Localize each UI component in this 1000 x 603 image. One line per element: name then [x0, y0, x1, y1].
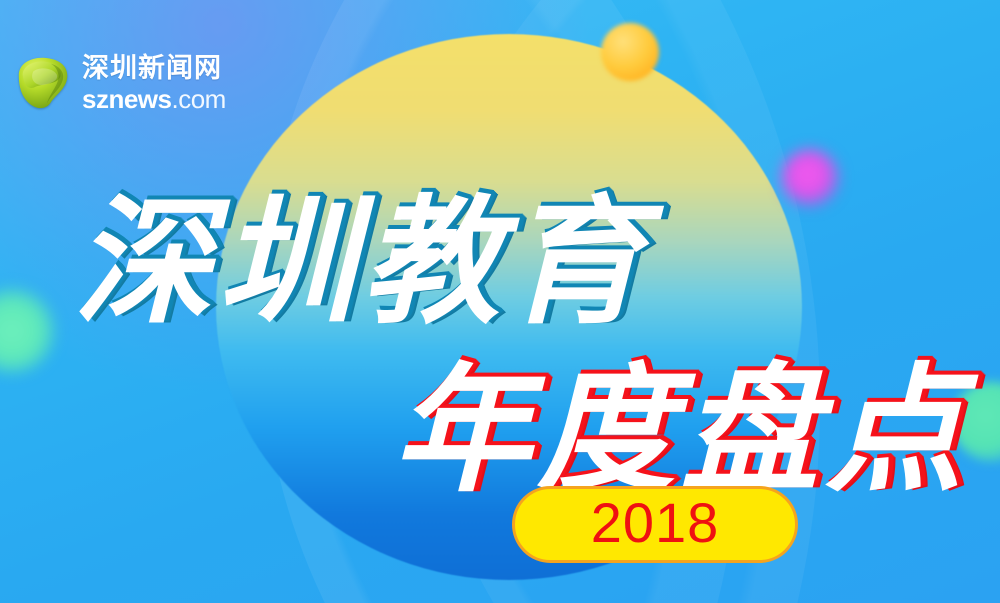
- logo-domain-suffix: .com: [172, 84, 226, 114]
- logo-chinese-name: 深圳新闻网: [82, 55, 226, 82]
- education-annual-review-banner: 深圳新闻网 sznews.com 深圳教育 年度盘点 2018: [0, 0, 1000, 603]
- year-label: 2018: [591, 495, 720, 551]
- logo-domain-bold: sznews: [82, 84, 172, 114]
- magenta-dot: [781, 149, 839, 207]
- yellow-dot: [601, 23, 659, 81]
- szn-leaf-swoosh-logo-icon: [12, 52, 74, 114]
- site-logo[interactable]: 深圳新闻网 sznews.com: [12, 52, 226, 114]
- year-badge: 2018: [512, 486, 798, 563]
- logo-text-block: 深圳新闻网 sznews.com: [82, 55, 226, 112]
- logo-domain: sznews.com: [82, 86, 226, 112]
